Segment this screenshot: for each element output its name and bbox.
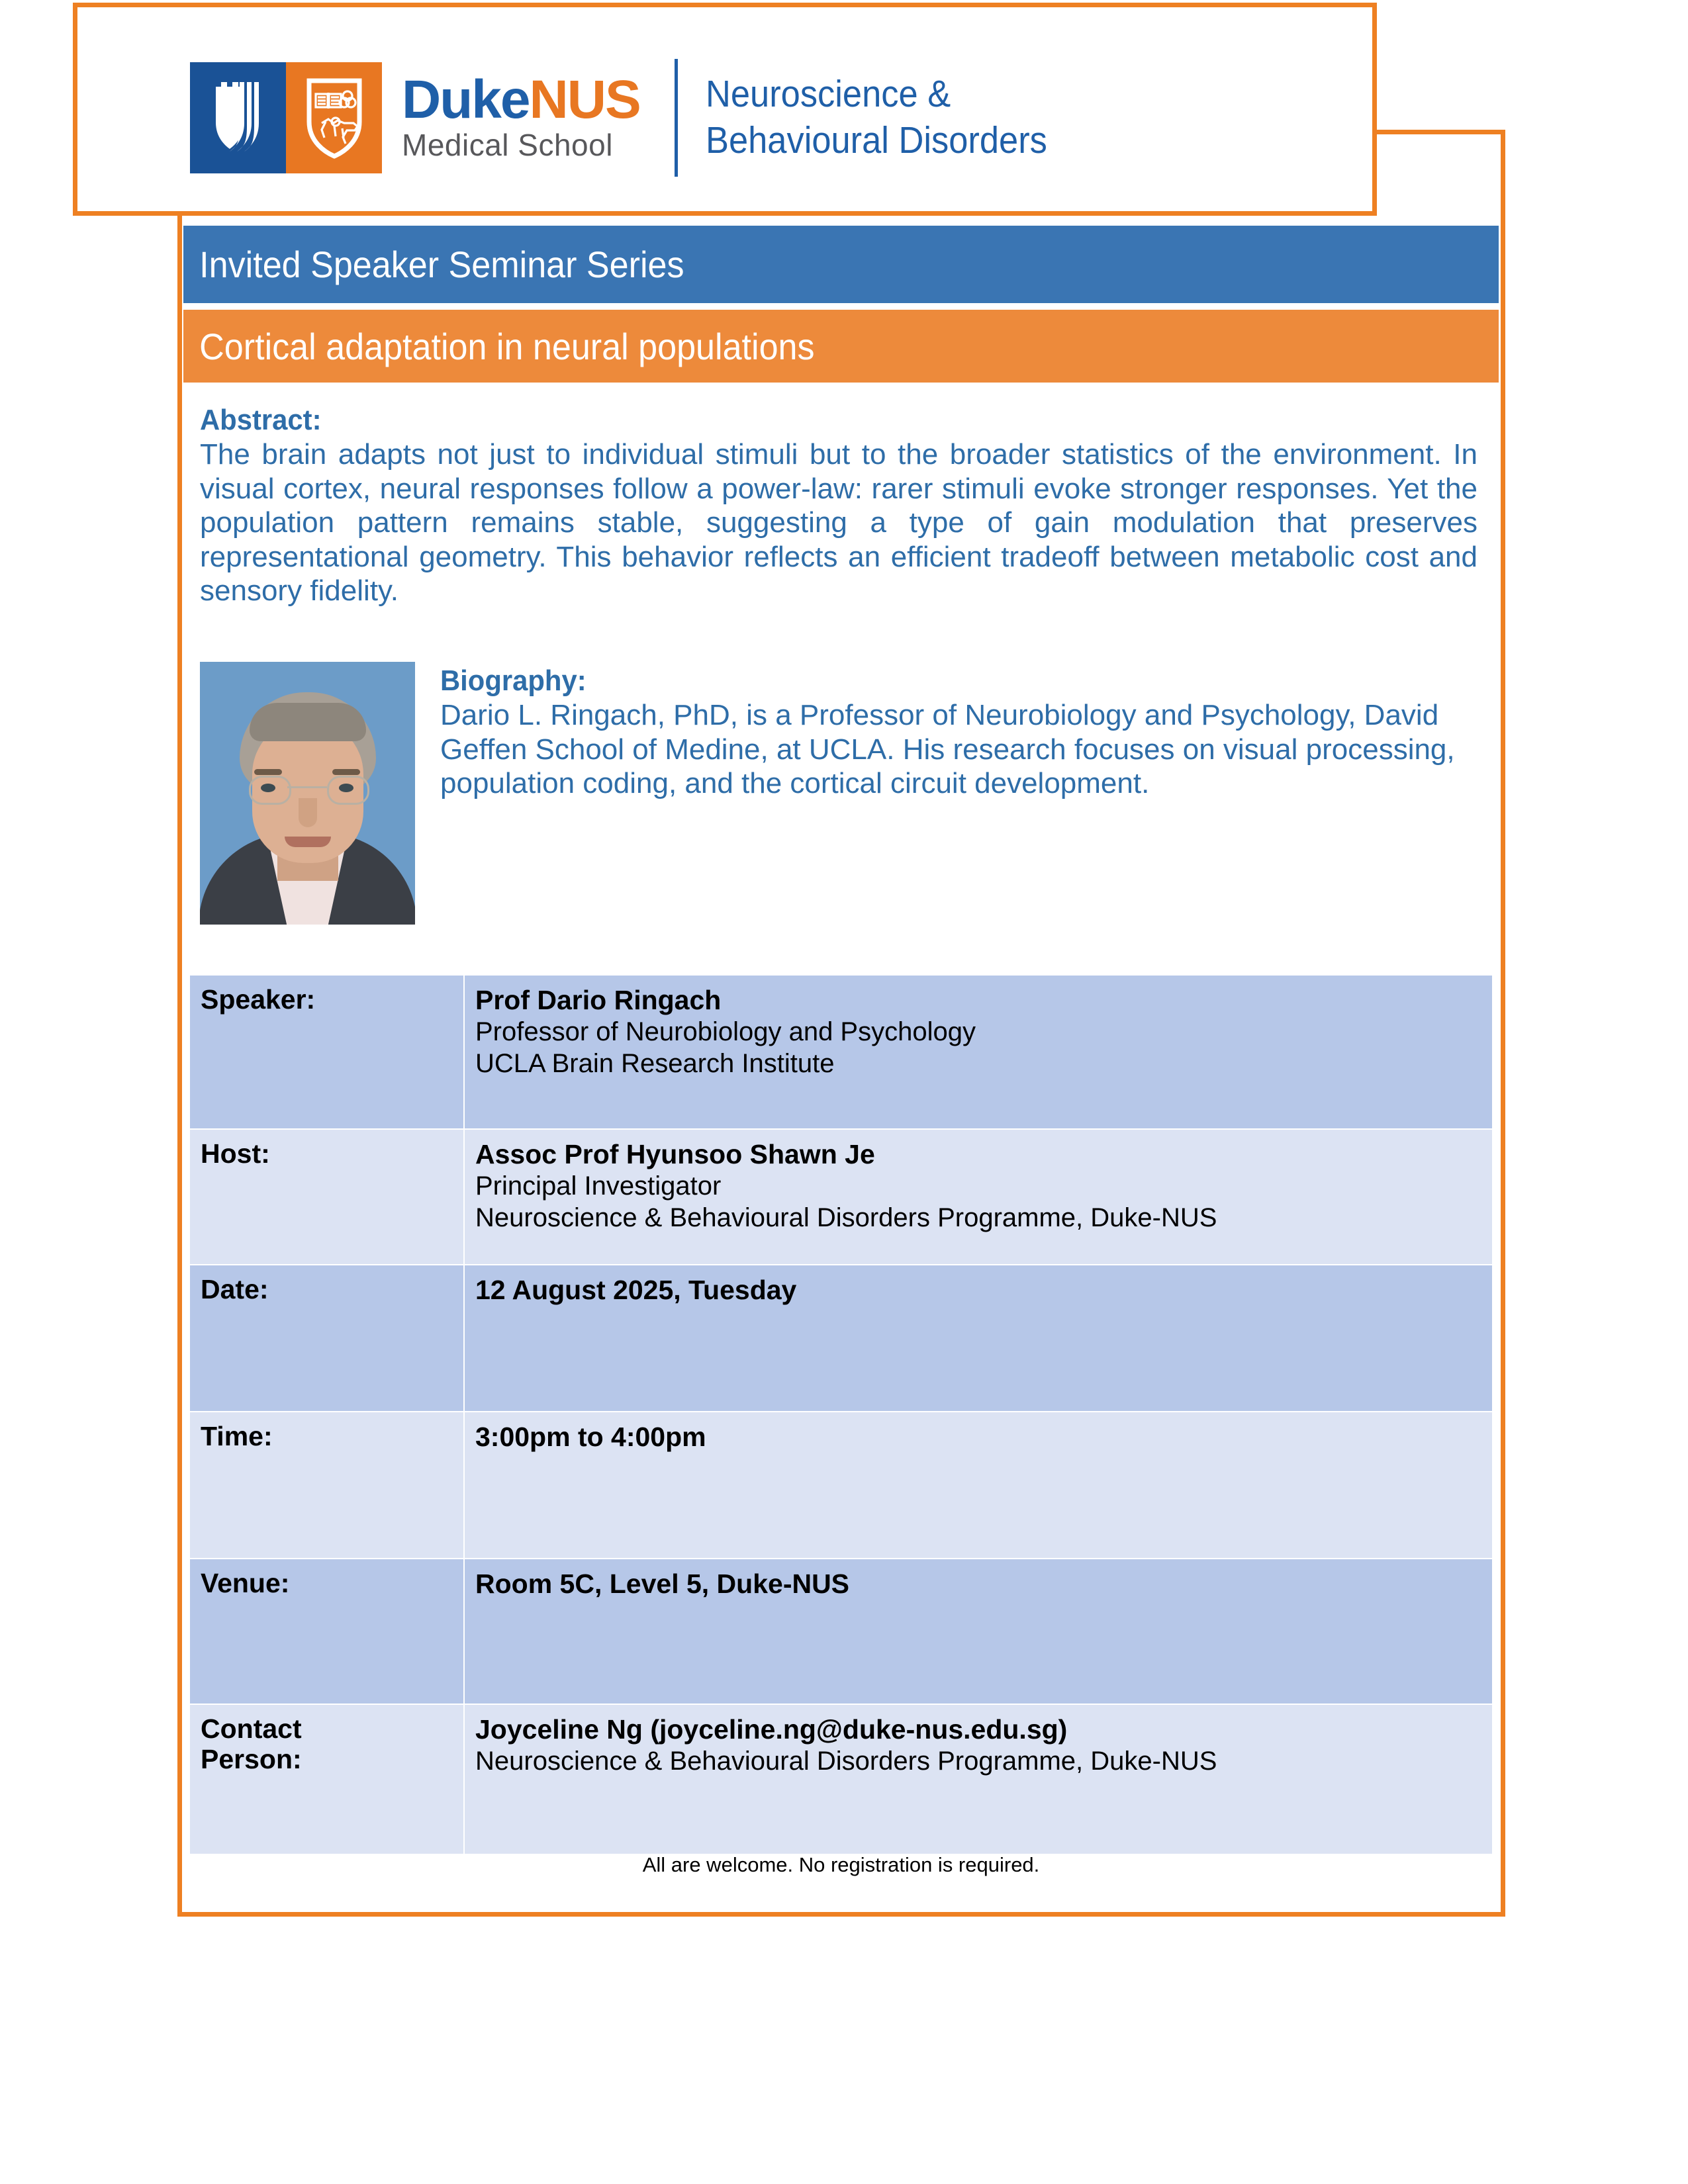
wordmark-nus: NUS	[530, 69, 640, 130]
speaker-portrait	[200, 662, 415, 925]
wordmark-primary: DukeNUS	[402, 74, 640, 126]
detail-value-line: Neuroscience & Behavioural Disorders Pro…	[475, 1746, 1483, 1778]
duke-nus-wordmark: DukeNUS Medical School	[402, 62, 640, 173]
table-row: Speaker: Prof Dario Ringach Professor of…	[189, 975, 1493, 1129]
detail-value-title: Prof Dario Ringach	[475, 984, 1483, 1017]
wordmark-duke: Duke	[402, 69, 530, 130]
detail-value-line: UCLA Brain Research Institute	[475, 1048, 1483, 1080]
wordmark-medical-school: Medical School	[402, 128, 640, 162]
logo-shields	[190, 62, 382, 173]
biography-heading: Biography:	[440, 664, 1426, 697]
detail-value-title: 3:00pm to 4:00pm	[475, 1421, 1483, 1453]
table-row: Date: 12 August 2025, Tuesday	[189, 1265, 1493, 1412]
portrait-glasses-lens-right	[327, 776, 369, 805]
programme-line-2: Behavioural Disorders	[706, 118, 1047, 164]
detail-label: Host:	[201, 1138, 454, 1169]
duke-shield-icon	[190, 62, 286, 173]
table-row: Venue: Room 5C, Level 5, Duke-NUS	[189, 1559, 1493, 1704]
header-frame: DukeNUS Medical School Neuroscience & Be…	[73, 3, 1377, 216]
detail-label-cell: Speaker:	[189, 975, 464, 1129]
seminar-details-table: Speaker: Prof Dario Ringach Professor of…	[189, 974, 1493, 1855]
detail-value-cell: 12 August 2025, Tuesday	[464, 1265, 1493, 1412]
nus-shield-icon	[286, 62, 382, 173]
portrait-mouth	[285, 837, 331, 847]
detail-value-line: Principal Investigator	[475, 1171, 1483, 1203]
abstract-heading: Abstract:	[200, 404, 1414, 436]
table-row: Contact Person: Joyceline Ng (joyceline.…	[189, 1704, 1493, 1854]
portrait-glasses-bridge	[287, 786, 327, 788]
portrait-eyebrow-right	[332, 769, 360, 775]
detail-value-cell: Prof Dario Ringach Professor of Neurobio…	[464, 975, 1493, 1129]
detail-label-cell: Time:	[189, 1412, 464, 1559]
detail-label: Date:	[201, 1274, 454, 1304]
abstract-body: The brain adapts not just to individual …	[200, 437, 1477, 608]
detail-value-cell: 3:00pm to 4:00pm	[464, 1412, 1493, 1559]
detail-label: Speaker:	[201, 984, 454, 1015]
detail-value-cell: Room 5C, Level 5, Duke-NUS	[464, 1559, 1493, 1704]
detail-label-cell: Contact Person:	[189, 1704, 464, 1854]
seminar-topic-label: Cortical adaptation in neural population…	[183, 325, 815, 368]
detail-label: Time:	[201, 1421, 454, 1451]
detail-label: Contact Person:	[201, 1713, 454, 1775]
portrait-hair-front	[250, 703, 366, 741]
biography-text-column: Biography: Dario L. Ringach, PhD, is a P…	[440, 662, 1477, 801]
detail-value-cell: Assoc Prof Hyunsoo Shawn Je Principal In…	[464, 1129, 1493, 1265]
portrait-eyebrow-left	[254, 769, 282, 775]
table-row: Time: 3:00pm to 4:00pm	[189, 1412, 1493, 1559]
detail-label-cell: Date:	[189, 1265, 464, 1412]
detail-value-title: Joyceline Ng (joyceline.ng@duke-nus.edu.…	[475, 1713, 1483, 1746]
seminar-series-banner: Invited Speaker Seminar Series	[183, 226, 1499, 303]
detail-label-cell: Host:	[189, 1129, 464, 1265]
portrait-glasses-lens-left	[249, 776, 291, 805]
detail-value-line: Neuroscience & Behavioural Disorders Pro…	[475, 1203, 1483, 1234]
detail-value-title: Room 5C, Level 5, Duke-NUS	[475, 1568, 1483, 1600]
logo-divider	[675, 59, 678, 177]
seminar-topic-banner: Cortical adaptation in neural population…	[183, 310, 1499, 383]
detail-label-cell: Venue:	[189, 1559, 464, 1704]
detail-value-line: Professor of Neurobiology and Psychology	[475, 1017, 1483, 1048]
portrait-nose	[299, 798, 317, 827]
detail-value-title: 12 August 2025, Tuesday	[475, 1274, 1483, 1306]
detail-value-cell: Joyceline Ng (joyceline.ng@duke-nus.edu.…	[464, 1704, 1493, 1854]
seminar-series-label: Invited Speaker Seminar Series	[183, 243, 684, 286]
programme-name: Neuroscience & Behavioural Disorders	[706, 71, 1047, 163]
biography-body: Dario L. Ringach, PhD, is a Professor of…	[440, 698, 1477, 800]
abstract-section: Abstract: The brain adapts not just to i…	[200, 404, 1477, 608]
footer-note: All are welcome. No registration is requ…	[189, 1853, 1493, 1877]
biography-section: Biography: Dario L. Ringach, PhD, is a P…	[200, 662, 1477, 925]
table-row: Host: Assoc Prof Hyunsoo Shawn Je Princi…	[189, 1129, 1493, 1265]
programme-line-1: Neuroscience &	[706, 71, 1047, 118]
detail-label: Venue:	[201, 1568, 454, 1598]
detail-value-title: Assoc Prof Hyunsoo Shawn Je	[475, 1138, 1483, 1171]
duke-nus-logo: DukeNUS Medical School Neuroscience & Be…	[190, 59, 1076, 177]
